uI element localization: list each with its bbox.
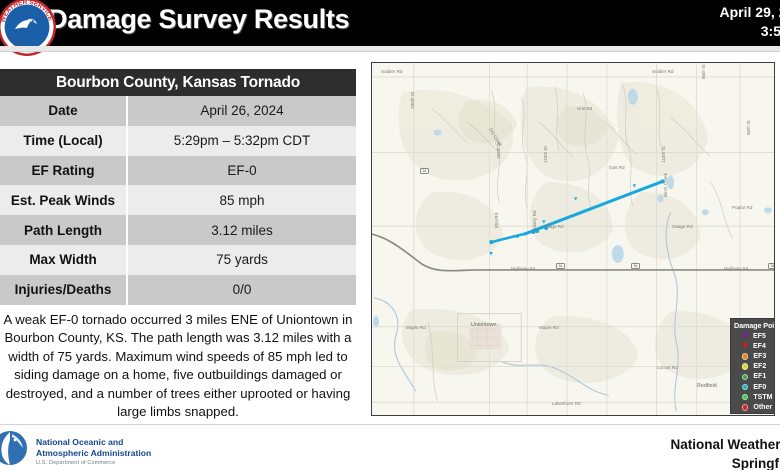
legend-item-ef0: EF0 (731, 382, 775, 392)
legend-item-ef5: EF5 (731, 331, 775, 341)
map-legend: Damage Points EF5 EF4 EF3 EF2 EF1 (730, 318, 775, 414)
row-value-max-width: 75 yards (128, 245, 356, 275)
legend-item-tstm: TSTM (731, 392, 775, 402)
table-row: Path Length 3.12 miles (0, 215, 356, 245)
map-label: Unit Rd (577, 106, 592, 111)
row-value-time: 5:29pm – 5:32pm CDT (128, 126, 356, 156)
header-date: April 29, 202 (720, 3, 780, 22)
other-marker-icon (742, 404, 748, 410)
table-row: Time (Local) 5:29pm – 5:32pm CDT (0, 126, 356, 156)
map-label: Lakeshore Rd (552, 401, 581, 406)
ef0-marker-icon (742, 384, 748, 390)
map-label: 190th St (410, 92, 415, 109)
nws-office-block: National Weather Ser Springfield, (670, 435, 780, 470)
damage-survey-map[interactable]: Soldier Rd Soldier Rd 190th St 155th St … (371, 62, 775, 416)
ef3-marker-icon (742, 353, 748, 359)
legend-label: EF3 (753, 353, 766, 360)
legend-item-ef2: EF2 (731, 362, 775, 372)
map-label: Highway 54 (724, 266, 748, 271)
map-label: Osage Rd (672, 224, 693, 229)
map-label: Maple Rd (539, 325, 559, 330)
map-terrain-layer (372, 63, 774, 415)
noaa-seal-icon (0, 428, 30, 468)
map-label: Maple Rd (406, 325, 426, 330)
tornado-summary-table: Bourbon County, Kansas Tornado Date Apri… (0, 69, 356, 305)
row-label-peak-winds: Est. Peak Winds (0, 185, 128, 215)
noaa-line-1: National Oceanic and (36, 437, 151, 448)
table-row: Max Width 75 yards (0, 245, 356, 275)
noaa-line-2: Atmospheric Administration (36, 448, 151, 459)
legend-label: TSTM (753, 394, 772, 401)
map-label: Birch Creek (663, 173, 668, 197)
page-title: Damage Survey Results (48, 4, 349, 35)
row-label-ef-rating: EF Rating (0, 156, 128, 186)
legend-label: EF5 (753, 333, 766, 340)
table-row: EF Rating EF-0 (0, 156, 356, 186)
damage-summary-text: A weak EF-0 tornado occurred 3 miles ENE… (0, 311, 360, 421)
map-label: Elm Rd (494, 213, 499, 228)
table-row: Est. Peak Winds 85 mph (0, 185, 356, 215)
row-label-time: Time (Local) (0, 126, 128, 156)
legend-label: EF4 (753, 343, 766, 350)
map-town-redfield: Redfield (697, 383, 717, 389)
legend-item-other: Other (731, 402, 775, 412)
nws-office-name: National Weather Ser (670, 435, 780, 454)
map-label: Highway 54 (511, 266, 535, 271)
map-label: 110th St (661, 146, 666, 163)
map-label: Gas Rd (609, 165, 625, 170)
ef5-marker-icon (742, 333, 748, 339)
map-label: Soldier Rd (652, 69, 673, 74)
legend-label: EF1 (753, 373, 766, 380)
route-shield: 54 (556, 263, 565, 269)
nws-seal-bird-icon (11, 13, 41, 39)
legend-item-ef4: EF4 (731, 341, 775, 351)
row-value-date: April 26, 2024 (128, 96, 356, 126)
legend-item-ef1: EF1 (731, 372, 775, 382)
map-label: 85th St (701, 64, 706, 79)
tstm-marker-icon (742, 394, 748, 400)
header-bar: Damage Survey Results April 29, 202 3:56… (0, 0, 780, 46)
row-label-max-width: Max Width (0, 245, 128, 275)
map-label: Soldier Rd (381, 69, 402, 74)
route-shield: 54 (768, 263, 775, 269)
header-underline (0, 46, 780, 52)
nws-office-city: Springfield, (670, 454, 780, 470)
legend-label: Other (753, 404, 772, 411)
route-shield: 54 (631, 263, 640, 269)
table-title: Bourbon County, Kansas Tornado (0, 69, 356, 96)
header-time: 3:56 P (720, 22, 780, 41)
map-label: 115th St (543, 146, 548, 163)
row-label-path-length: Path Length (0, 215, 128, 245)
slide-root: Damage Survey Results April 29, 202 3:56… (0, 0, 780, 470)
ef1-marker-icon (742, 374, 748, 380)
route-shield: 54 (420, 168, 429, 174)
row-value-ef-rating: EF-0 (128, 156, 356, 186)
ef4-marker-icon (742, 343, 748, 349)
table-row: Date April 26, 2024 (0, 96, 356, 126)
header-datetime: April 29, 202 3:56 P (720, 3, 780, 41)
map-label: 65th St (746, 120, 751, 135)
map-label: Osage Rd (543, 224, 564, 229)
noaa-wordmark: National Oceanic and Atmospheric Adminis… (36, 437, 151, 460)
map-label: Locust Rd (657, 365, 678, 370)
row-label-injuries-deaths: Injuries/Deaths (0, 275, 128, 305)
row-value-injuries-deaths: 0/0 (128, 275, 356, 305)
row-value-peak-winds: 85 mph (128, 185, 356, 215)
row-label-date: Date (0, 96, 128, 126)
map-label: Poplar Rd (732, 205, 752, 210)
legend-label: EF0 (753, 384, 766, 391)
legend-title: Damage Points (731, 319, 775, 331)
ef2-marker-icon (742, 363, 748, 369)
table-row: Injuries/Deaths 0/0 (0, 275, 356, 305)
map-town-uniontown: Uniontown (471, 322, 496, 328)
legend-label: EF2 (753, 363, 766, 370)
row-value-path-length: 3.12 miles (128, 215, 356, 245)
map-label: Hickory Rd (532, 211, 537, 233)
noaa-subtitle: U.S. Department of Commerce (36, 460, 115, 466)
legend-item-ef3: EF3 (731, 351, 775, 361)
